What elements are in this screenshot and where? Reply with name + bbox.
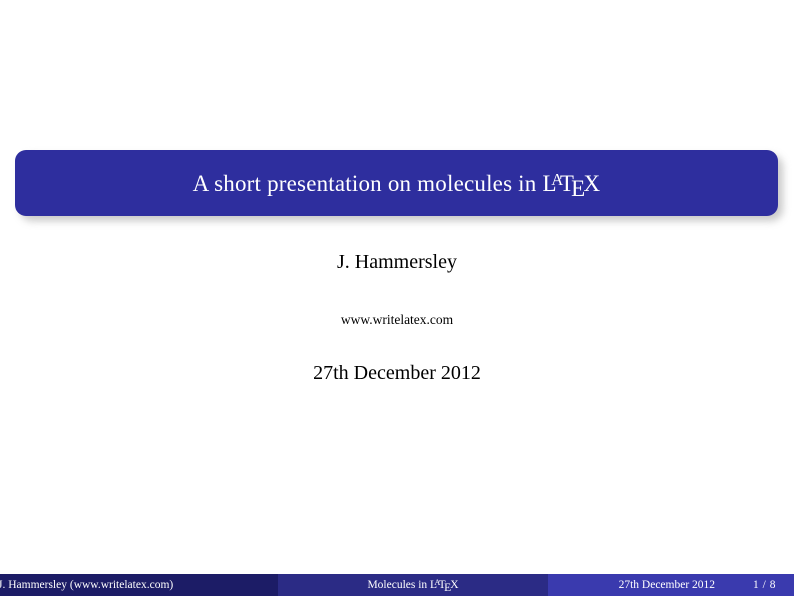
presentation-date: 27th December 2012 — [0, 363, 794, 383]
presentation-slide: A short presentation on molecules in LAT… — [0, 0, 794, 596]
author-name: J. Hammersley — [0, 252, 794, 272]
title-prefix-text: A short presentation on molecules in — [193, 171, 543, 196]
footer-author-text: J. Hammersley (www.writelatex.com) — [0, 579, 173, 591]
footer-title-prefix: Molecules in — [367, 579, 430, 591]
title-info-block: J. Hammersley www.writelatex.com 27th De… — [0, 252, 794, 383]
footer-latex-logo: LATEX — [430, 579, 459, 591]
footer-right-section: 27th December 2012 1 / 8 — [548, 574, 794, 596]
title-box: A short presentation on molecules in LAT… — [15, 150, 778, 216]
footer-title-section: Molecules in LATEX — [278, 574, 548, 596]
latex-a: A — [434, 578, 440, 587]
footer-author-section: J. Hammersley (www.writelatex.com) — [0, 574, 278, 596]
footer-title-text: Molecules in LATEX — [367, 579, 458, 591]
latex-x: X — [450, 579, 458, 591]
latex-a: A — [551, 170, 563, 189]
latex-logo: LATEX — [542, 171, 600, 196]
latex-e: E — [444, 582, 451, 594]
footer-page-number: 1 / 8 — [753, 579, 776, 591]
slide-footer: J. Hammersley (www.writelatex.com) Molec… — [0, 574, 794, 596]
latex-e: E — [571, 176, 585, 201]
author-website: www.writelatex.com — [0, 313, 794, 327]
latex-x: X — [584, 171, 601, 196]
page-title: A short presentation on molecules in LAT… — [193, 172, 601, 195]
footer-date-text: 27th December 2012 — [619, 579, 715, 591]
